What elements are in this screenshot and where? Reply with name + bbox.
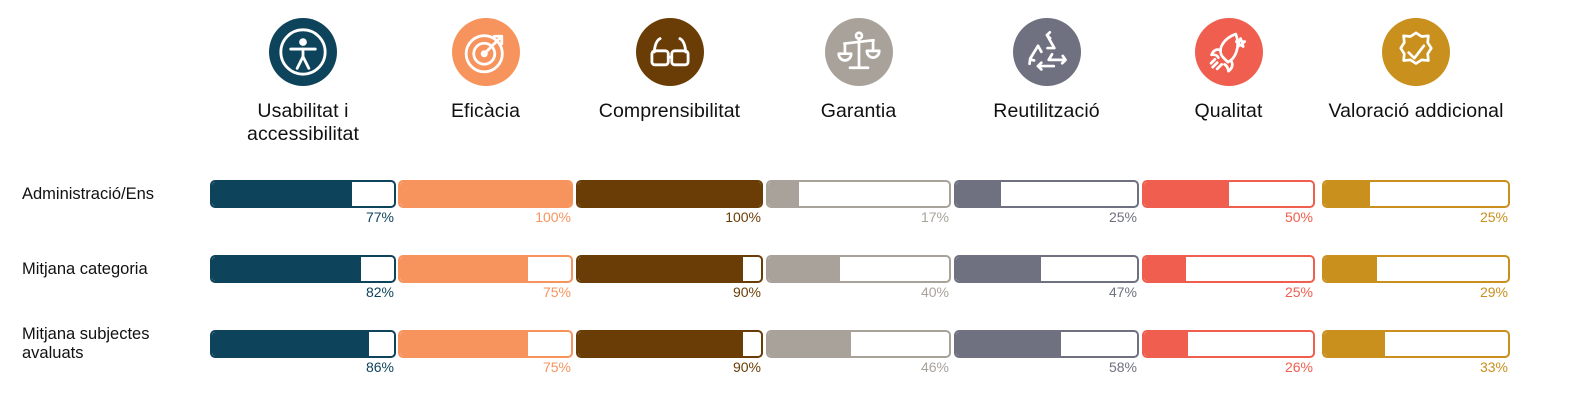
progress-value-label: 86% [210,359,394,375]
progress-bar-fill [1144,257,1186,281]
progress-bar-fill [578,332,743,356]
accessibility-icon [269,18,337,86]
progress-bar-fill [956,182,1001,206]
progress-bar-fill [768,332,851,356]
progress-bar [954,180,1139,208]
progress-value-label: 58% [954,359,1137,375]
progress-value-label: 29% [1322,284,1508,300]
row-label-1: Administració/Ens [22,185,202,204]
progress-value-label: 100% [576,209,761,225]
progress-bar [766,255,951,283]
row-label-2: Mitjana categoria [22,260,202,279]
progress-bar-fill [768,182,799,206]
progress-value-label: 17% [766,209,949,225]
progress-bar [954,255,1139,283]
progress-bar-fill [400,332,528,356]
progress-bar [398,180,573,208]
progress-value-label: 26% [1142,359,1313,375]
progress-bar [210,255,396,283]
progress-bar-fill [1144,182,1229,206]
progress-bar [210,180,396,208]
progress-bar-fill [578,257,743,281]
progress-bar [576,255,763,283]
progress-bar-fill [1324,257,1377,281]
progress-value-label: 25% [954,209,1137,225]
progress-value-label: 77% [210,209,394,225]
progress-value-label: 46% [766,359,949,375]
progress-bar [1142,330,1315,358]
rocket-icon [1195,18,1263,86]
row-label-3: Mitjana subjectes avaluats [22,325,202,363]
progress-bar-fill [212,332,369,356]
progress-bar-fill [578,182,761,206]
progress-bar-fill [400,257,528,281]
progress-bar [1142,180,1315,208]
verified-badge-icon [1382,18,1450,86]
progress-bar [576,180,763,208]
progress-value-label: 47% [954,284,1137,300]
progress-bar [1142,255,1315,283]
progress-bar-fill [212,257,361,281]
progress-bar [954,330,1139,358]
progress-bar-fill [1324,332,1385,356]
glasses-icon [636,18,704,86]
progress-bar-fill [956,257,1041,281]
progress-bar-fill [768,257,840,281]
progress-value-label: 25% [1322,209,1508,225]
progress-bar [766,180,951,208]
progress-value-label: 90% [576,284,761,300]
progress-value-label: 82% [210,284,394,300]
recycle-icon [1013,18,1081,86]
progress-bar-fill [956,332,1061,356]
progress-bar [576,330,763,358]
progress-bar [210,330,396,358]
progress-bar-fill [400,182,571,206]
target-arrow-icon [452,18,520,86]
progress-value-label: 40% [766,284,949,300]
category-header: Usabilitat i accessibilitat Eficàcia Com… [0,0,1590,168]
scales-balance-icon [825,18,893,86]
progress-value-label: 33% [1322,359,1508,375]
progress-bar [1322,330,1510,358]
progress-dashboard: Usabilitat i accessibilitat Eficàcia Com… [0,0,1590,419]
progress-bar [1322,255,1510,283]
progress-value-label: 50% [1142,209,1313,225]
progress-bar-fill [1144,332,1188,356]
progress-value-label: 25% [1142,284,1313,300]
progress-bar [766,330,951,358]
progress-value-label: 100% [398,209,571,225]
progress-bar [398,255,573,283]
category-7: Valoració addicional [1286,18,1546,123]
progress-value-label: 90% [576,359,761,375]
category-label: Valoració addicional [1286,100,1546,123]
progress-value-label: 75% [398,284,571,300]
progress-bar [398,330,573,358]
progress-bar-fill [212,182,352,206]
progress-value-label: 75% [398,359,571,375]
progress-bar-fill [1324,182,1370,206]
progress-bar [1322,180,1510,208]
